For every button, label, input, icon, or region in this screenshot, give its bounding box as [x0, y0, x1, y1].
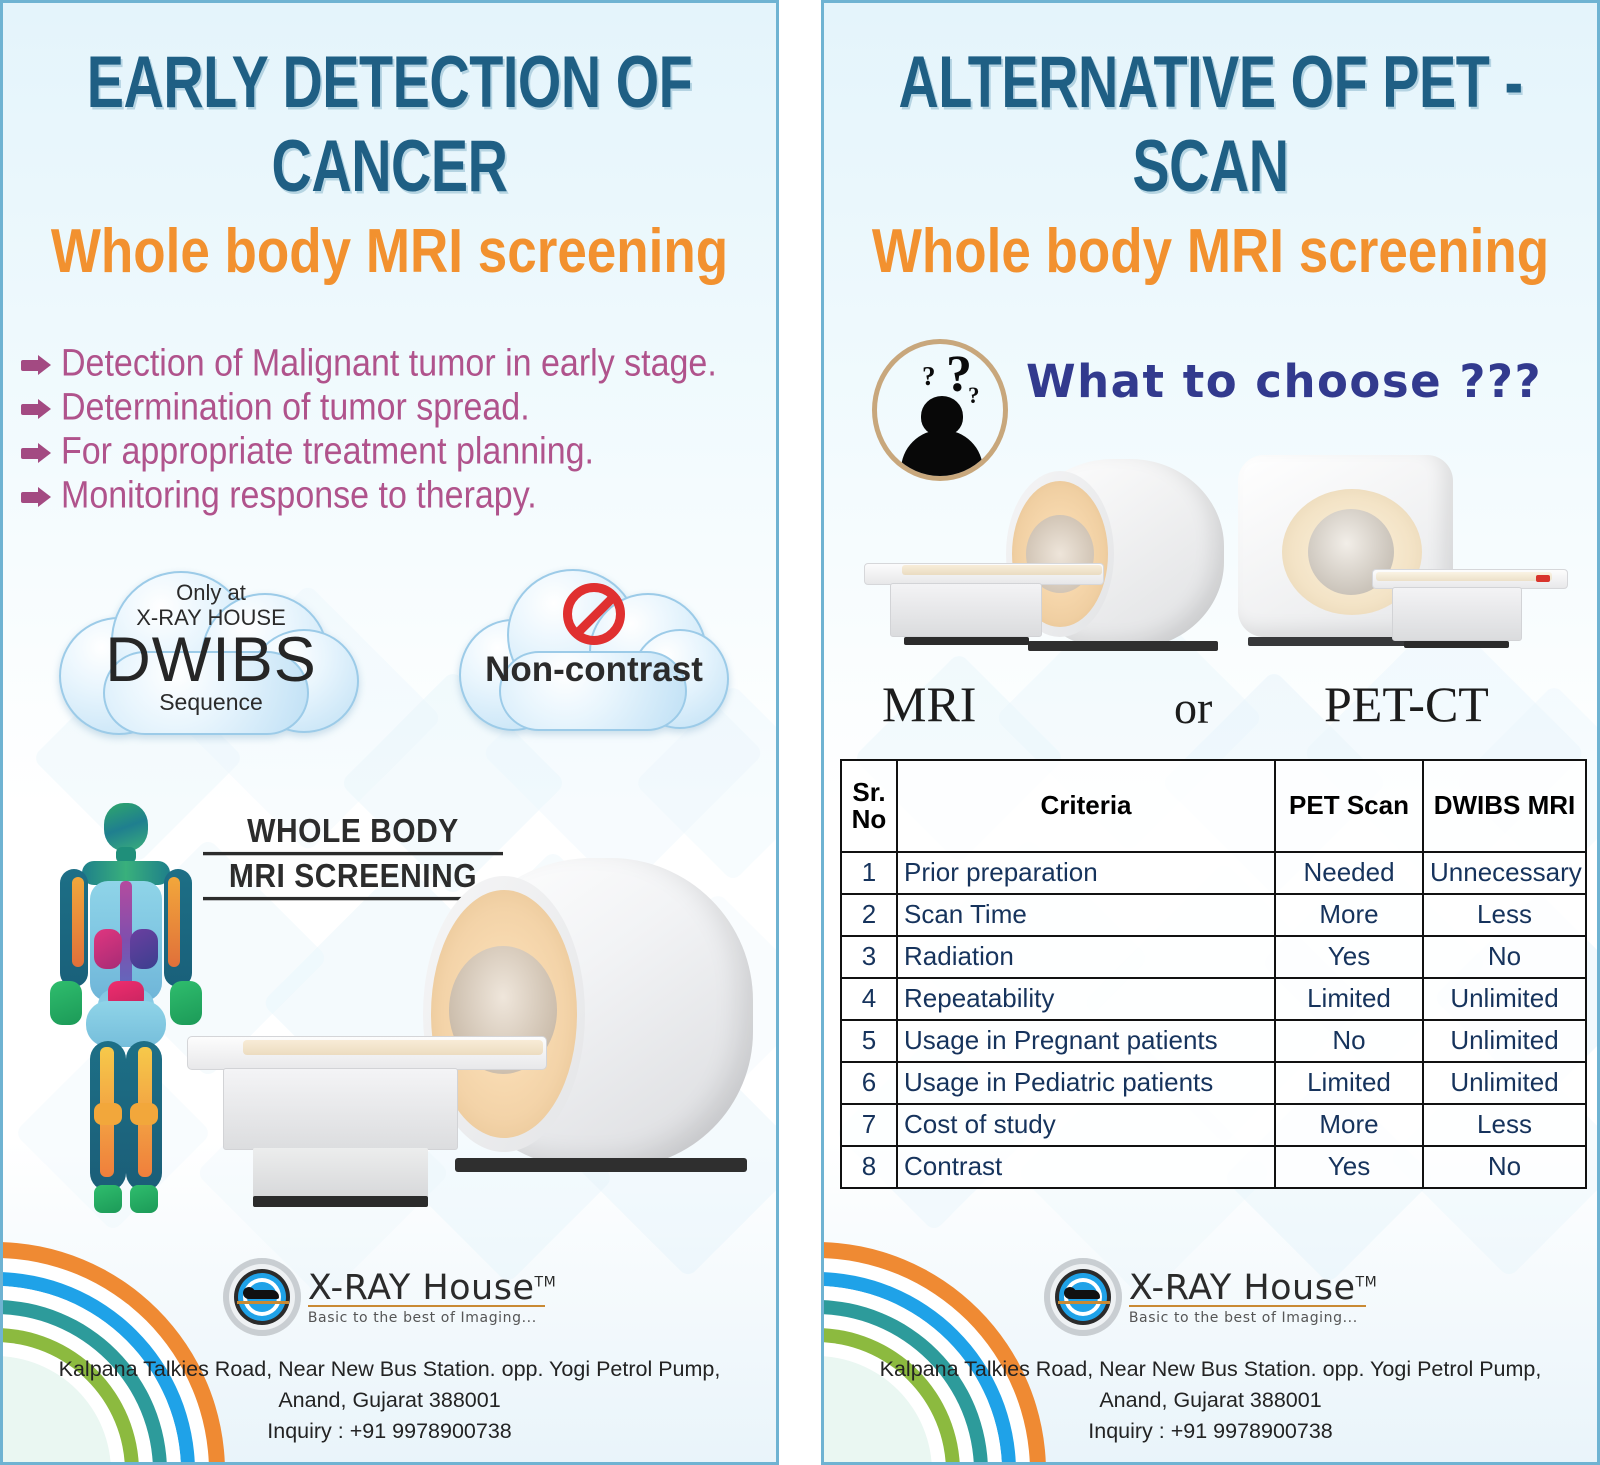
cell-pet-scan: Needed [1275, 852, 1423, 894]
what-to-choose-label: What to choose ??? [1026, 355, 1542, 408]
cell-criteria: Radiation [897, 936, 1275, 978]
body-region [130, 1185, 158, 1213]
cell-pet-scan: More [1275, 894, 1423, 936]
mri-table-column [890, 583, 1042, 637]
comparison-table: Sr. No Criteria PET Scan DWIBS MRI 1Prio… [840, 759, 1587, 1189]
left-panel-title: EARLY DETECTION OF CANCER [30, 40, 749, 208]
logo-tagline: Basic to the best of Imaging... [1129, 1310, 1377, 1326]
table-row: 1Prior preparationNeededUnnecessary [841, 852, 1586, 894]
cell-criteria: Repeatability [897, 978, 1275, 1020]
logo-wordmark: X-RAY HouseTM [1129, 1268, 1377, 1308]
ct-table-pad [1376, 572, 1552, 581]
cell-pet-scan: More [1275, 1104, 1423, 1146]
mri-table-column [223, 1068, 458, 1150]
cell-dwibs-mri: Unnecessary [1423, 852, 1586, 894]
list-item-label: For appropriate treatment planning. [61, 429, 594, 474]
contact-address: Kalpana Talkies Road, Near New Bus Stati… [824, 1354, 1597, 1447]
cell-sr-no: 5 [841, 1020, 897, 1062]
ct-table-foot [1404, 641, 1509, 648]
arrow-bullet-icon [21, 399, 55, 419]
cell-sr-no: 4 [841, 978, 897, 1020]
question-mark-icon: ? [968, 383, 980, 409]
cell-pet-scan: Yes [1275, 936, 1423, 978]
cell-pet-scan: Limited [1275, 1062, 1423, 1104]
right-panel-title: ALTERNATIVE OF PET - SCAN [851, 40, 1570, 208]
right-panel: ALTERNATIVE OF PET - SCAN Whole body MRI… [821, 0, 1600, 1465]
address-line-1: Kalpana Talkies Road, Near New Bus Stati… [3, 1354, 776, 1385]
machine-label-row: MRI or PET-CT [844, 675, 1584, 735]
inquiry-phone: Inquiry : +91 9978900738 [824, 1416, 1597, 1447]
body-region [86, 1001, 166, 1047]
table-row: 5Usage in Pregnant patientsNoUnlimited [841, 1020, 1586, 1062]
logo-name: X-RAY House [308, 1268, 535, 1308]
list-item-label: Determination of tumor spread. [61, 385, 530, 430]
cell-dwibs-mri: Less [1423, 1104, 1586, 1146]
brochure-sheet: EARLY DETECTION OF CANCER Whole body MRI… [0, 0, 1600, 1465]
body-region [104, 803, 148, 851]
column-header-dwibs-mri: DWIBS MRI [1423, 760, 1586, 852]
body-region [50, 981, 82, 1025]
sr-line1: Sr. [848, 779, 890, 806]
whole-body-caption-line1: WHOLE BODY [203, 813, 503, 856]
list-item-label: Monitoring response to therapy. [61, 473, 537, 518]
list-item: Monitoring response to therapy. [21, 473, 779, 513]
table-row: 8ContrastYesNo [841, 1146, 1586, 1188]
machine-label-pet-ct: PET-CT [1324, 675, 1489, 733]
body-region [130, 929, 158, 969]
cell-criteria: Usage in Pregnant patients [897, 1020, 1275, 1062]
address-line-2: Anand, Gujarat 388001 [3, 1385, 776, 1416]
address-line-2: Anand, Gujarat 388001 [824, 1385, 1597, 1416]
brand-logo: X-RAY HouseTM Basic to the best of Imagi… [3, 1258, 776, 1336]
ct-indicator-light [1536, 575, 1550, 582]
cloud-callouts: Only at X-RAY HOUSE DWIBS Sequence Non [3, 543, 776, 758]
xray-house-logo-icon [223, 1258, 301, 1336]
column-header-sr-no: Sr. No [841, 760, 897, 852]
list-item: For appropriate treatment planning. [21, 429, 779, 469]
benefits-list: Detection of Malignant tumor in early st… [21, 341, 779, 517]
logo-patient-body-icon [249, 1290, 279, 1299]
machine-label-or: or [1174, 681, 1212, 734]
cell-dwibs-mri: Unlimited [1423, 1062, 1586, 1104]
cell-sr-no: 8 [841, 1146, 897, 1188]
mri-machine-image [864, 451, 1224, 666]
mri-table-foot [904, 637, 1029, 645]
cloud-dwibs-text: Only at X-RAY HOUSE DWIBS Sequence [51, 555, 371, 740]
address-line-1: Kalpana Talkies Road, Near New Bus Stati… [824, 1354, 1597, 1385]
table-row: 3RadiationYesNo [841, 936, 1586, 978]
cell-sr-no: 6 [841, 1062, 897, 1104]
logo-wordmark: X-RAY HouseTM [308, 1268, 556, 1308]
cell-dwibs-mri: No [1423, 1146, 1586, 1188]
mri-table-foot [253, 1196, 428, 1207]
cell-criteria: Scan Time [897, 894, 1275, 936]
body-region [130, 1103, 158, 1125]
what-to-choose-heading: What to choose ??? [1026, 355, 1542, 408]
mri-plinth [1028, 641, 1218, 651]
inquiry-phone: Inquiry : +91 9978900738 [3, 1416, 776, 1447]
contact-address: Kalpana Talkies Road, Near New Bus Stati… [3, 1354, 776, 1447]
machine-label-mri: MRI [882, 675, 976, 733]
footer-right: X-RAY HouseTM Basic to the best of Imagi… [824, 1244, 1597, 1462]
left-panel: EARLY DETECTION OF CANCER Whole body MRI… [0, 0, 779, 1465]
cell-sr-no: 7 [841, 1104, 897, 1146]
cloud-non-contrast: Non-contrast [455, 557, 733, 737]
list-item: Determination of tumor spread. [21, 385, 779, 425]
cell-criteria: Prior preparation [897, 852, 1275, 894]
cloud-dwibs: Only at X-RAY HOUSE DWIBS Sequence [51, 555, 371, 740]
mri-scanner-image [183, 858, 753, 1218]
mri-table-base [253, 1148, 428, 1198]
cell-sr-no: 1 [841, 852, 897, 894]
cloud-dwibs-headline: DWIBS [105, 629, 317, 691]
question-mark-icon: ? [922, 361, 936, 392]
xray-house-logo-icon [1044, 1258, 1122, 1336]
cell-criteria: Usage in Pediatric patients [897, 1062, 1275, 1104]
mri-table-pad [243, 1040, 543, 1055]
body-region [94, 1103, 122, 1125]
logo-tagline: Basic to the best of Imaging... [308, 1310, 556, 1326]
cell-dwibs-mri: Unlimited [1423, 1020, 1586, 1062]
logo-table-bar [1058, 1301, 1110, 1304]
body-region [94, 929, 122, 969]
table-row: 6Usage in Pediatric patientsLimitedUnlim… [841, 1062, 1586, 1104]
table-header-row: Sr. No Criteria PET Scan DWIBS MRI [841, 760, 1586, 852]
logo-table-bar [237, 1301, 289, 1304]
sr-line2: No [848, 806, 890, 833]
cloud-dwibs-line3: Sequence [159, 689, 263, 716]
brand-logo: X-RAY HouseTM Basic to the best of Imagi… [824, 1258, 1597, 1336]
body-region [168, 877, 180, 967]
cloud-non-contrast-label: Non-contrast [485, 650, 703, 690]
cell-sr-no: 3 [841, 936, 897, 978]
cell-dwibs-mri: Unlimited [1423, 978, 1586, 1020]
ct-table-column [1392, 587, 1522, 641]
list-item-label: Detection of Malignant tumor in early st… [61, 341, 717, 386]
body-region [72, 877, 84, 967]
table-row: 2Scan TimeMoreLess [841, 894, 1586, 936]
cell-pet-scan: Limited [1275, 978, 1423, 1020]
logo-patient-body-icon [1070, 1290, 1100, 1299]
list-item: Detection of Malignant tumor in early st… [21, 341, 779, 381]
comparison-table-wrapper: Sr. No Criteria PET Scan DWIBS MRI 1Prio… [840, 759, 1585, 1189]
cell-sr-no: 2 [841, 894, 897, 936]
table-row: 4RepeatabilityLimitedUnlimited [841, 978, 1586, 1020]
arrow-bullet-icon [21, 443, 55, 463]
arrow-bullet-icon [21, 355, 55, 375]
mri-table-pad [902, 565, 1102, 575]
pet-ct-machine-image [1224, 451, 1574, 666]
cell-pet-scan: No [1275, 1020, 1423, 1062]
column-header-pet-scan: PET Scan [1275, 760, 1423, 852]
no-entry-icon [563, 583, 625, 645]
cell-criteria: Contrast [897, 1146, 1275, 1188]
logo-name: X-RAY House [1129, 1268, 1356, 1308]
left-panel-subtitle: Whole body MRI screening [3, 216, 776, 288]
cell-dwibs-mri: No [1423, 936, 1586, 978]
body-region [94, 1185, 122, 1213]
arrow-bullet-icon [21, 487, 55, 507]
panel-gap [779, 0, 821, 1465]
table-row: 7Cost of studyMoreLess [841, 1104, 1586, 1146]
cell-pet-scan: Yes [1275, 1146, 1423, 1188]
cell-dwibs-mri: Less [1423, 894, 1586, 936]
column-header-criteria: Criteria [897, 760, 1275, 852]
right-panel-subtitle: Whole body MRI screening [824, 216, 1597, 288]
logo-trademark: TM [535, 1274, 557, 1290]
mri-plinth [455, 1158, 747, 1172]
footer-left: X-RAY HouseTM Basic to the best of Imagi… [3, 1244, 776, 1462]
cell-criteria: Cost of study [897, 1104, 1275, 1146]
cloud-dwibs-line1: Only at [176, 580, 246, 605]
logo-trademark: TM [1356, 1274, 1378, 1290]
